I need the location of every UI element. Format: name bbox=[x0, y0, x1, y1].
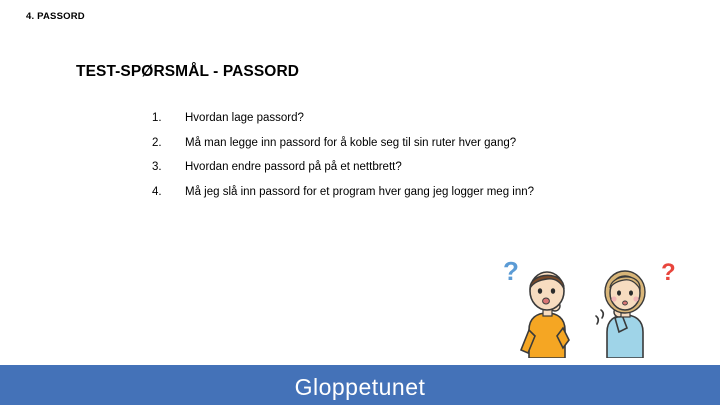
list-item-text: Hvordan endre passord på på et nettbrett… bbox=[185, 161, 672, 173]
page-title: TEST-SPØRSMÅL - PASSORD bbox=[76, 63, 299, 81]
footer-title: Gloppetunet bbox=[0, 374, 720, 401]
list-item-number: 2. bbox=[152, 137, 185, 149]
list-item: 1. Hvordan lage passord? bbox=[152, 112, 672, 124]
question-mark-icon-blue: ? bbox=[503, 258, 519, 286]
list-item-text: Må jeg slå inn passord for et program hv… bbox=[185, 186, 672, 198]
section-label: 4. PASSORD bbox=[26, 11, 85, 22]
question-mark-icon-red: ? bbox=[661, 259, 676, 286]
slide-canvas: 4. PASSORD TEST-SPØRSMÅL - PASSORD 1. Hv… bbox=[0, 0, 720, 405]
question-list: 1. Hvordan lage passord? 2. Må man legge… bbox=[152, 112, 672, 210]
boy-figure bbox=[521, 272, 569, 358]
list-item-number: 1. bbox=[152, 112, 185, 124]
list-item-number: 4. bbox=[152, 186, 185, 198]
list-item-text: Må man legge inn passord for å koble seg… bbox=[185, 137, 672, 149]
list-item-number: 3. bbox=[152, 161, 185, 173]
svg-text:?: ? bbox=[661, 259, 676, 286]
list-item: 4. Må jeg slå inn passord for et program… bbox=[152, 186, 672, 198]
illustration-two-people-thinking: ? ? bbox=[495, 258, 680, 358]
list-item: 2. Må man legge inn passord for å koble … bbox=[152, 137, 672, 149]
svg-text:?: ? bbox=[503, 258, 519, 286]
list-item-text: Hvordan lage passord? bbox=[185, 112, 672, 124]
list-item: 3. Hvordan endre passord på på et nettbr… bbox=[152, 161, 672, 173]
girl-figure bbox=[596, 271, 645, 358]
